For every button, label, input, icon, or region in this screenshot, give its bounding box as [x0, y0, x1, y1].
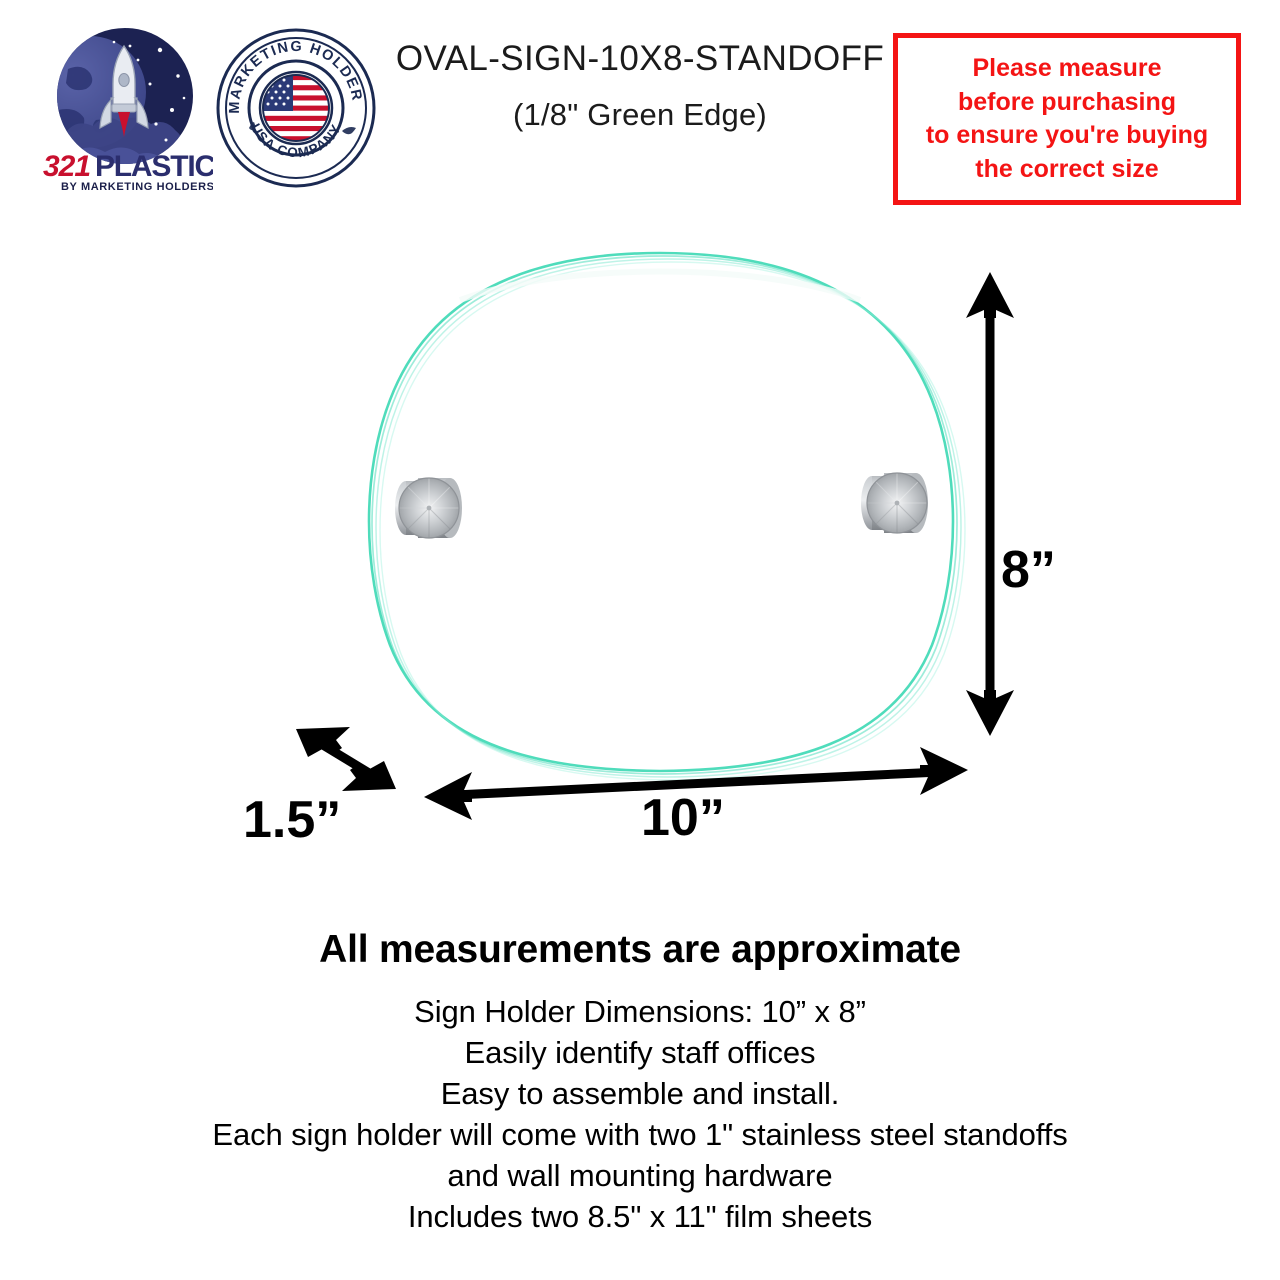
description-line-3: Easy to assemble and install. — [0, 1074, 1280, 1115]
title-block: OVAL-SIGN-10X8-STANDOFF (1/8" Green Edge… — [390, 38, 890, 133]
description-line-1: Sign Holder Dimensions: 10” x 8” — [0, 992, 1280, 1033]
product-listing-image: 321 PLASTICS BY MARKETING HOLDERS — [0, 0, 1280, 1280]
approximate-heading: All measurements are approximate — [0, 928, 1280, 972]
svg-text:321: 321 — [43, 150, 90, 183]
svg-text:PLASTICS: PLASTICS — [95, 150, 213, 183]
product-title: OVAL-SIGN-10X8-STANDOFF — [390, 38, 890, 81]
description-line-2: Easily identify staff offices — [0, 1033, 1280, 1074]
usa-company-seal-icon: MARKETING HOLDERS USA COMPANY — [216, 28, 376, 188]
warning-line-4: the correct size — [975, 153, 1158, 187]
product-subtitle: (1/8" Green Edge) — [390, 97, 890, 133]
dimension-arrow-height — [966, 272, 1014, 736]
svg-text:BY MARKETING HOLDERS: BY MARKETING HOLDERS — [61, 181, 213, 193]
brand-seal-marketing-holders: MARKETING HOLDERS USA COMPANY — [216, 28, 376, 188]
panel-edge-layer-3 — [380, 262, 965, 780]
description-line-5: and wall mounting hardware — [0, 1156, 1280, 1197]
measure-warning-box: Please measure before purchasing to ensu… — [893, 33, 1241, 205]
dimension-label-depth: 1.5” — [243, 790, 341, 850]
description-line-6: Includes two 8.5" x 11" film sheets — [0, 1197, 1280, 1238]
warning-line-2: before purchasing — [958, 86, 1176, 120]
standoff-brush-lines — [867, 473, 927, 533]
panel-face — [369, 253, 953, 771]
dimension-arrow-depth — [296, 727, 396, 791]
standoff-brush-lines — [399, 478, 459, 538]
sign-panel — [369, 253, 965, 780]
brand-logo-321plastics: 321 PLASTICS BY MARKETING HOLDERS — [38, 24, 213, 194]
panel-highlight — [460, 272, 860, 301]
warning-line-3: to ensure you're buying — [926, 119, 1208, 153]
standoff-left — [395, 478, 462, 538]
rocket-globe-logo-icon: 321 PLASTICS BY MARKETING HOLDERS — [38, 24, 213, 194]
panel-edge-layer-2 — [376, 259, 961, 777]
panel-edge-layer-1 — [372, 256, 957, 774]
dimension-label-height: 8” — [1001, 540, 1056, 600]
standoff-right — [861, 473, 928, 533]
warning-line-1: Please measure — [972, 52, 1161, 86]
description-block: All measurements are approximate Sign Ho… — [0, 928, 1280, 1237]
dimension-label-width: 10” — [641, 788, 725, 848]
description-line-4: Each sign holder will come with two 1" s… — [0, 1115, 1280, 1156]
